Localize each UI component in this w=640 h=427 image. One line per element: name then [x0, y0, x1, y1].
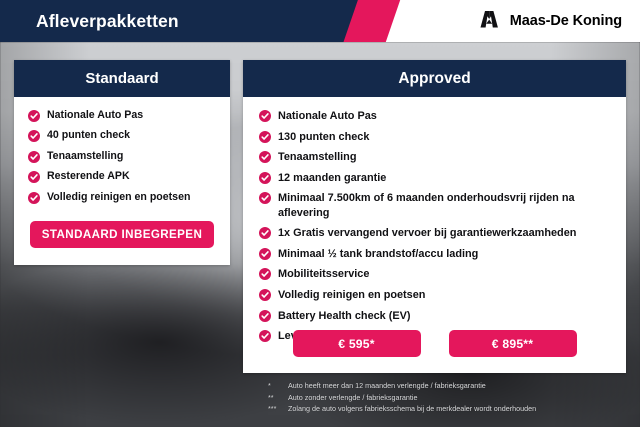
feature-text: Minimaal 7.500km of 6 maanden onderhouds… — [278, 191, 614, 220]
feature-text: Nationale Auto Pas — [278, 109, 377, 123]
check-circle-icon — [28, 192, 40, 204]
list-item: Nationale Auto Pas — [28, 109, 220, 123]
price-button-895[interactable]: € 895** — [449, 330, 577, 357]
list-item: Mobiliteitsservice — [259, 267, 614, 281]
footnote-marker: ** — [268, 392, 288, 404]
feature-text: Resterende APK — [47, 170, 130, 184]
check-circle-icon — [259, 172, 271, 184]
price-button-595[interactable]: € 595* — [293, 330, 421, 357]
card-standaard: Standaard Nationale Auto Pas 40 punten c… — [14, 60, 230, 265]
list-item: Minimaal ½ tank brandstof/accu lading — [259, 247, 614, 261]
card-standaard-title: Standaard — [14, 60, 230, 97]
feature-text: 1x Gratis vervangend vervoer bij garanti… — [278, 226, 576, 240]
feature-text: Mobiliteitsservice — [278, 267, 369, 281]
footnote-text: Auto zonder verlengde / fabrieksgarantie — [288, 392, 628, 404]
feature-text: Nationale Auto Pas — [47, 109, 143, 123]
maas-de-koning-m-mark-icon — [476, 9, 502, 34]
feature-text: Tenaamstelling — [47, 150, 123, 164]
brand-lockup: Maas-De Koning — [476, 0, 622, 42]
list-item: Minimaal 7.500km of 6 maanden onderhouds… — [259, 191, 614, 220]
page-title: Afleverpakketten — [36, 0, 179, 42]
feature-text: Minimaal ½ tank brandstof/accu lading — [278, 247, 478, 261]
check-circle-icon — [259, 192, 271, 204]
approved-feature-list: Nationale Auto Pas 130 punten check Tena… — [259, 109, 614, 344]
list-item: Resterende APK — [28, 170, 220, 184]
footnote-marker: *** — [268, 403, 288, 415]
card-approved: Approved Nationale Auto Pas 130 punten c… — [243, 60, 626, 373]
footnote-text: Zolang de auto volgens fabrieksschema bi… — [288, 403, 628, 415]
slide-root: Afleverpakketten Maas-De Koning Standaar… — [0, 0, 640, 427]
feature-text: 12 maanden garantie — [278, 171, 386, 185]
list-item: 12 maanden garantie — [259, 171, 614, 185]
check-circle-icon — [259, 227, 271, 239]
list-item: 1x Gratis vervangend vervoer bij garanti… — [259, 226, 614, 240]
feature-text: Volledig reinigen en poetsen — [278, 288, 425, 302]
check-circle-icon — [259, 289, 271, 301]
check-circle-icon — [259, 268, 271, 280]
check-circle-icon — [28, 151, 40, 163]
footnote-row: *** Zolang de auto volgens fabrieksschem… — [268, 403, 628, 415]
check-circle-icon — [259, 151, 271, 163]
standaard-inbegrepen-button[interactable]: STANDAARD INBEGREPEN — [30, 221, 214, 248]
card-approved-body: Nationale Auto Pas 130 punten check Tena… — [243, 97, 626, 344]
feature-text: 40 punten check — [47, 129, 130, 143]
check-circle-icon — [259, 131, 271, 143]
check-circle-icon — [259, 110, 271, 122]
brand-name: Maas-De Koning — [510, 13, 622, 29]
list-item: Tenaamstelling — [259, 150, 614, 164]
check-circle-icon — [28, 110, 40, 122]
footnote-text: Auto heeft meer dan 12 maanden verlengde… — [288, 380, 628, 392]
check-circle-icon — [28, 130, 40, 142]
footnote-row: * Auto heeft meer dan 12 maanden verleng… — [268, 380, 628, 392]
list-item: Nationale Auto Pas — [259, 109, 614, 123]
feature-text: Battery Health check (EV) — [278, 309, 411, 323]
list-item: Battery Health check (EV) — [259, 309, 614, 323]
list-item: Tenaamstelling — [28, 150, 220, 164]
list-item: 130 punten check — [259, 130, 614, 144]
check-circle-icon — [259, 310, 271, 322]
standaard-feature-list: Nationale Auto Pas 40 punten check Tenaa… — [28, 109, 220, 205]
footnote-row: ** Auto zonder verlengde / fabrieksgaran… — [268, 392, 628, 404]
top-banner: Afleverpakketten Maas-De Koning — [0, 0, 640, 42]
list-item: Volledig reinigen en poetsen — [28, 191, 220, 205]
list-item: 40 punten check — [28, 129, 220, 143]
check-circle-icon — [28, 171, 40, 183]
footnote-marker: * — [268, 380, 288, 392]
feature-text: 130 punten check — [278, 130, 369, 144]
card-standaard-body: Nationale Auto Pas 40 punten check Tenaa… — [14, 97, 230, 205]
list-item: Volledig reinigen en poetsen — [259, 288, 614, 302]
check-circle-icon — [259, 248, 271, 260]
feature-text: Tenaamstelling — [278, 150, 356, 164]
feature-text: Volledig reinigen en poetsen — [47, 191, 190, 205]
footnotes: * Auto heeft meer dan 12 maanden verleng… — [268, 380, 628, 415]
card-approved-title: Approved — [243, 60, 626, 97]
price-button-row: € 595* € 895** — [243, 330, 626, 357]
